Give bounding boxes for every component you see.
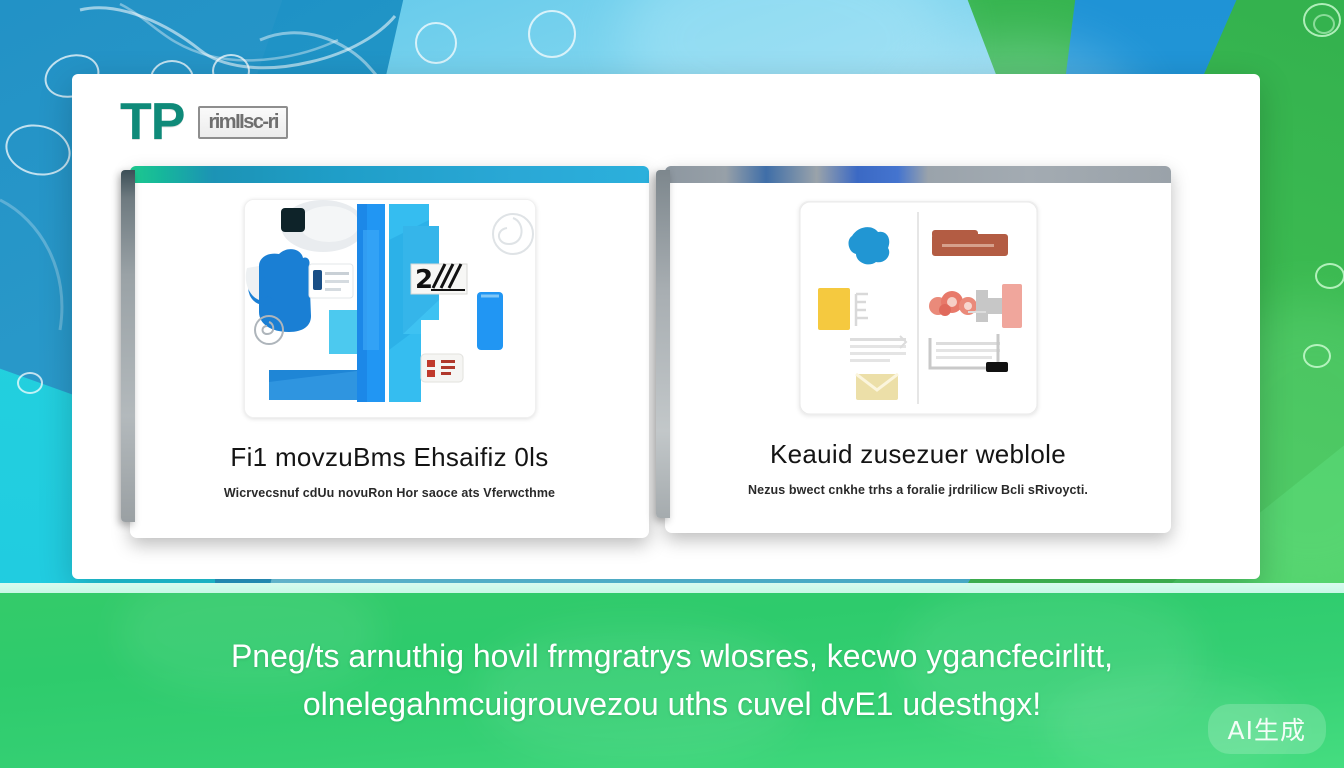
card-title: Fi1 movzuBms Ehsaifiz 0ls xyxy=(230,442,548,473)
card-subtitle: Wicrvecsnuf cdUu novuRon Hor saoce ats V… xyxy=(224,486,555,500)
card-body: 2 Fi1 movzuBms xyxy=(130,183,649,500)
content-panel: TP rimIIsc-ri xyxy=(72,74,1260,579)
caption-line-2: olnelegahmcuigrouvezou uths cuvel dvE1 u… xyxy=(303,687,1041,722)
illustration-svg xyxy=(800,202,1037,414)
brand-logo: TP rimIIsc-ri xyxy=(120,96,288,148)
illustration-abstract-blue-collage: 2 xyxy=(244,199,536,418)
svg-text:2: 2 xyxy=(415,265,433,295)
caption-band: Pneg/ts arnuthig hovil frmgratrys wlosre… xyxy=(0,593,1344,768)
card-body: Keauid zusezuer weblole Nezus bwect cnkh… xyxy=(665,183,1171,497)
card-subtitle: Nezus bwect cnkhe trhs a foralie jrdrili… xyxy=(748,483,1088,497)
logo-mark: TP xyxy=(120,96,184,148)
decorative-ring-icon xyxy=(1313,14,1335,34)
illustration-svg: 2 xyxy=(245,200,535,417)
decorative-ring-icon xyxy=(17,372,43,394)
caption-text: Pneg/ts arnuthig hovil frmgratrys wlosre… xyxy=(0,593,1344,768)
card-right[interactable]: Keauid zusezuer weblole Nezus bwect cnkh… xyxy=(665,166,1171,533)
card-title: Keauid zusezuer weblole xyxy=(770,439,1066,470)
illustration-pastel-icon-grid xyxy=(799,201,1038,415)
card-header-bar xyxy=(130,166,649,183)
decorative-ring-icon xyxy=(528,10,576,58)
card-side-tab xyxy=(656,170,670,518)
card-row: 2 Fi1 movzuBms xyxy=(130,166,1171,538)
logo-wordmark: rimIIsc-ri xyxy=(198,106,287,139)
ai-generated-watermark: AI生成 xyxy=(1208,704,1326,754)
decorative-ring-icon xyxy=(1315,263,1344,289)
card-side-tab xyxy=(121,170,135,522)
caption-line-1: Pneg/ts arnuthig hovil frmgratrys wlosre… xyxy=(231,639,1113,674)
card-header-bar xyxy=(665,166,1171,183)
mint-divider xyxy=(0,583,1344,593)
decorative-ring-icon xyxy=(1303,344,1331,368)
card-left[interactable]: 2 Fi1 movzuBms xyxy=(130,166,649,538)
